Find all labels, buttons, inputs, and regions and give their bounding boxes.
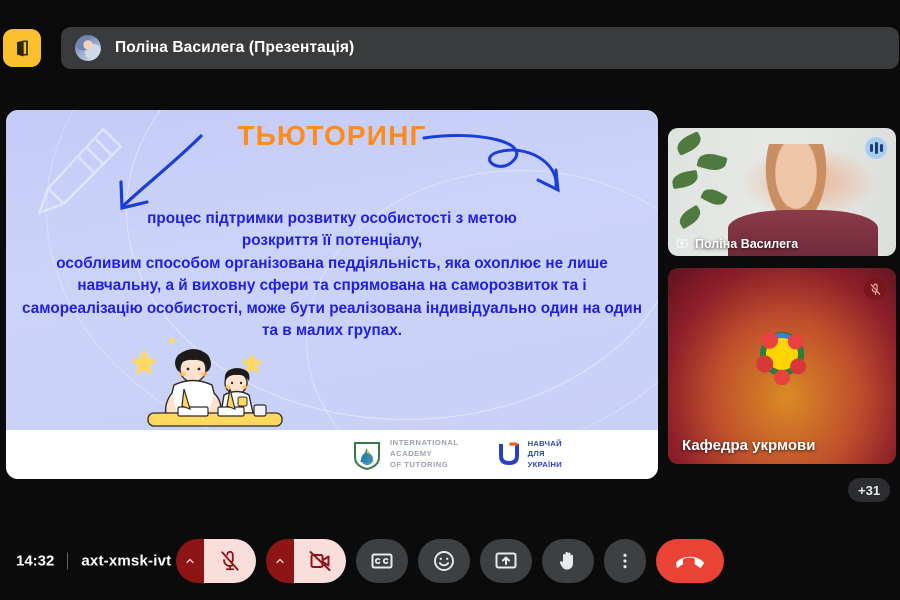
top-bar: Поліна Василега (Презентація) [0, 22, 900, 74]
meeting-info: 14:32 axt-xmsk-ivt [16, 553, 171, 570]
avatar [751, 323, 813, 385]
tutor-child-illustration [126, 327, 291, 430]
emoji-smile-icon [432, 549, 456, 573]
more-vertical-icon [615, 551, 635, 571]
more-options-button[interactable] [604, 539, 646, 583]
plant-leaf [700, 185, 728, 209]
avatar [75, 35, 101, 61]
raise-hand-button[interactable] [542, 539, 594, 583]
participant-background [668, 268, 896, 464]
end-call-button[interactable] [656, 539, 724, 583]
plant-leaf [696, 151, 727, 174]
participant-name-label: Поліна Василега [676, 237, 798, 251]
shield-icon [353, 440, 381, 470]
plant-leaf [674, 131, 704, 156]
present-button[interactable] [480, 539, 532, 583]
plant-leaf [676, 205, 704, 230]
logo-line: ACADEMY [390, 449, 459, 460]
meeting-code[interactable]: axt-xmsk-ivt [81, 553, 171, 570]
meeting-time: 14:32 [16, 553, 54, 570]
microphone-muted-icon [864, 278, 886, 300]
overflow-participants-badge[interactable]: +31 [848, 478, 890, 502]
logo-international-academy-of-tutoring: INTERNATIONAL ACADEMY OF TUTORING [353, 438, 459, 470]
speaking-indicator-icon [865, 137, 887, 159]
logo-iat-text: INTERNATIONAL ACADEMY OF TUTORING [390, 438, 459, 470]
participant-tile-polina[interactable]: Поліна Василега [668, 128, 896, 256]
participant-tile-kafedra[interactable]: Кафедра укрмови [668, 268, 896, 464]
logo-line: ДЛЯ [528, 449, 562, 459]
slide-footer-logos: INTERNATIONAL ACADEMY OF TUTORING НАВЧАЙ… [6, 430, 658, 479]
presenter-pill[interactable]: Поліна Василега (Презентація) [61, 27, 899, 69]
slide-title: ТЬЮТОРИНГ [6, 120, 658, 152]
captions-button[interactable] [356, 539, 408, 583]
present-small-icon [676, 238, 688, 250]
camera-off-icon[interactable] [294, 539, 346, 583]
end-call-icon [676, 547, 704, 575]
door-exit-icon[interactable] [3, 29, 41, 67]
logo-line: INTERNATIONAL [390, 438, 459, 449]
call-controls [176, 539, 724, 583]
shared-screen-slide[interactable]: ТЬЮТОРИНГ процес підтримки розвитку особ… [6, 110, 658, 479]
slide-line: розкриття її потенціалу, [22, 230, 642, 252]
logo-line: НАВЧАЙ [528, 439, 562, 449]
slide-canvas: ТЬЮТОРИНГ процес підтримки розвитку особ… [6, 110, 658, 430]
slide-body-text: процес підтримки розвитку особистості з … [22, 208, 642, 343]
plant-leaf [671, 170, 699, 189]
camera-options-chevron-icon[interactable] [266, 539, 294, 583]
logo-line: УКРАЇНИ [528, 460, 562, 470]
logo-navchai-dlya-ukrainy: НАВЧАЙ ДЛЯ УКРАЇНИ [497, 439, 562, 469]
microphone-off-icon[interactable] [204, 539, 256, 583]
participant-name-label: Кафедра укрмови [682, 437, 815, 454]
slide-line: особливим способом організована педдіяль… [56, 255, 563, 272]
present-screen-icon [494, 549, 518, 573]
logo-nfu-text: НАВЧАЙ ДЛЯ УКРАЇНИ [528, 439, 562, 469]
raise-hand-icon [556, 549, 580, 573]
divider [67, 553, 68, 570]
participant-name-text: Кафедра укрмови [682, 437, 815, 454]
camera-button[interactable] [266, 539, 346, 583]
captions-cc-icon [370, 549, 394, 573]
bottom-bar: 14:32 axt-xmsk-ivt [0, 522, 900, 600]
participant-name-text: Поліна Василега [695, 237, 798, 251]
microphone-button[interactable] [176, 539, 256, 583]
reactions-button[interactable] [418, 539, 470, 583]
u-magnet-icon [497, 441, 521, 467]
slide-line: процес підтримки розвитку особистості з … [22, 208, 642, 230]
logo-line: OF TUTORING [390, 460, 459, 471]
microphone-options-chevron-icon[interactable] [176, 539, 204, 583]
meet-window: Поліна Василега (Презентація) ТЬЮТОРИНГ [0, 0, 900, 600]
presenter-name: Поліна Василега (Презентація) [115, 39, 354, 57]
